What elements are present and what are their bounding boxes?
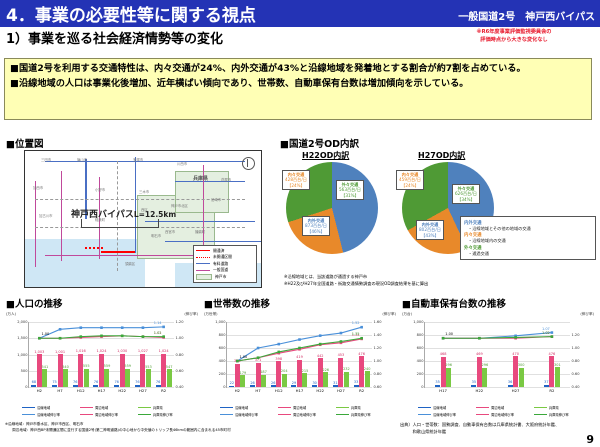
od-label-h27-inout: 内外交通 802百台/日 【43%】 <box>416 220 444 240</box>
vehicles-unit-right: (伸び率) <box>580 312 594 317</box>
od-chart-title-h27: H27OD内訳 <box>418 150 465 161</box>
x-axis-tick: H7 <box>255 388 260 393</box>
y-axis-tick-left: 400 <box>417 359 424 363</box>
city-tag: 加古川市 <box>39 213 53 218</box>
y-axis-tick-left: 0 <box>25 385 27 389</box>
line-end-value-label: 1.02 <box>154 331 162 335</box>
od-key-desc: ・沿線地域とその他の地域の交通 <box>464 226 592 232</box>
legend-label: 沿線地域伸び率 <box>37 412 60 417</box>
y-axis-tick-right: 0.40 <box>572 385 580 389</box>
y-axis-tick-right: 1.00 <box>572 346 580 350</box>
legend-label: 沿線地域 <box>37 405 50 410</box>
y-axis-tick-left: 1,500 <box>17 336 27 340</box>
od-chart-title-h22: H22OD内訳 <box>302 150 349 161</box>
y-axis-tick-left: 500 <box>21 369 28 373</box>
legend-label: 周辺地域 <box>95 405 108 410</box>
households-unit-left: (万世帯) <box>204 312 218 317</box>
line-end-value-label: 1.14 <box>154 321 162 325</box>
y-axis-tick-right: 0.60 <box>572 372 580 376</box>
y-axis-tick-left: 600 <box>417 346 424 350</box>
legend-swatch-icon <box>80 414 93 415</box>
legend-item: 兵庫県伸び率 <box>534 411 592 418</box>
opened-line-icon <box>196 250 210 251</box>
bullet-marker-icon: ■ <box>10 78 19 91</box>
page-title: 4．事業の必要性等に関する視点 <box>6 1 256 26</box>
households-unit-right: (伸び率) <box>382 312 396 317</box>
line-start-value-label: 1.00 <box>41 332 49 336</box>
legend-swatch-icon <box>534 407 547 409</box>
map-legend-label: 開通済 <box>213 248 224 254</box>
unopened-section-line <box>85 247 103 249</box>
od-label-h22-through: 外々交通 563百台/日 【31%】 <box>336 180 364 200</box>
page-number: 9 <box>586 433 594 446</box>
national-road-line <box>61 171 62 261</box>
x-axis-tick: H12 <box>77 388 85 393</box>
section-subtitle: 1）事業を巡る社会経済情勢等の変化 <box>6 28 223 47</box>
callout-bullet-2-text: 沿線地域の人口は事業化後増加、近年横ばい傾向であり、世帯数、自動車保有台数は増加… <box>19 78 468 89</box>
y-axis-tick-right: 0.80 <box>374 372 382 376</box>
od-label-pct: 【31%】 <box>339 193 361 198</box>
legend-label: 周辺地域 <box>491 405 504 410</box>
legend-label: 兵庫県伸び率 <box>153 412 173 417</box>
x-axis-tick: R2 <box>161 388 166 393</box>
x-axis-tick: H27 <box>139 388 147 393</box>
evaluation-note-line2: 評価時点から大きな変化なし <box>434 37 594 45</box>
x-axis-tick: H17 <box>296 388 304 393</box>
households-chart-heading: ■世帯数の推移 <box>204 296 270 310</box>
y-axis-tick-left: 200 <box>219 372 226 376</box>
od-label-h27-inner: 内々交通 459百台/日 【24%】 <box>396 170 424 190</box>
population-unit-right: (伸び率) <box>184 312 198 317</box>
footnote-right-2: 和歌山県統計年鑑 <box>400 429 559 436</box>
route-extent-brace <box>81 219 159 228</box>
legend-item: 周辺地域 <box>278 404 336 411</box>
legend-label: 兵庫県 <box>549 405 559 410</box>
y-axis-tick-left: 400 <box>219 359 226 363</box>
road-line <box>45 161 245 162</box>
od-definition-key: 内外交通 ・沿線地域とその他の地域の交通 内々交通 ・沿線地域内の交通 外々交通… <box>460 216 596 260</box>
legend-item: 周辺地域 <box>80 404 138 411</box>
households-plot-area: 00.602000.804001.006001.208001.401,0001.… <box>226 322 372 388</box>
od-note-2: ※H22及びH27年全国道路・街路交通情勢調査の現況OD調査結果を基に算出 <box>284 281 428 288</box>
line-start-value-label: 1.00 <box>445 332 453 336</box>
map-legend: 開通済 未開通区間 有料道路 一般国道 神戸市 <box>193 245 257 284</box>
legend-swatch-icon <box>22 414 35 415</box>
legend-item: 沿線地域 <box>220 404 278 411</box>
location-map-panel: ■位置図 神戸西バイパスL=12.5km <box>6 136 268 288</box>
legend-item: 周辺地域伸び率 <box>476 411 534 418</box>
x-axis-tick: H12 <box>275 388 283 393</box>
legend-label: 兵庫県 <box>153 405 163 410</box>
od-label-pct: 【24%】 <box>285 183 307 188</box>
opened-section-line <box>101 251 135 253</box>
legend-label: 兵庫県伸び率 <box>549 412 569 417</box>
x-axis-tick: H2 <box>235 388 240 393</box>
od-key-desc: ・沿線地域内の交通 <box>464 238 592 244</box>
city-tag: 小野市 <box>95 187 105 192</box>
y-axis-tick-right: 0.60 <box>176 369 184 373</box>
x-axis-tick: H17 <box>98 388 106 393</box>
city-tag: 播磨町 <box>195 229 205 234</box>
legend-label: 兵庫県伸び率 <box>351 412 371 417</box>
callout-bullet-1: ■ 国道2号を利用する交通特性は、内々交通が24%、内外交通が43%と沿線地域を… <box>10 63 586 76</box>
legend-item: 兵庫県伸び率 <box>336 411 394 418</box>
x-axis-tick: H27 <box>512 388 520 393</box>
legend-item: 周辺地域伸び率 <box>278 411 336 418</box>
legend-swatch-icon <box>80 407 93 409</box>
legend-swatch-icon <box>278 414 291 415</box>
city-tag: 三田市 <box>41 157 51 162</box>
y-axis-tick-left: 800 <box>417 333 424 337</box>
city-tag: 西区 <box>141 207 148 212</box>
callout-bullet-1-text: 国道2号を利用する交通特性は、内々交通が24%、内外交通が43%と沿線地域を発着… <box>19 63 526 74</box>
y-axis-tick-right: 1.00 <box>176 336 184 340</box>
legend-item: 兵庫県 <box>534 404 592 411</box>
y-axis-tick-left: 0 <box>223 385 225 389</box>
y-axis-tick-right: 0.80 <box>572 359 580 363</box>
legend-label: 沿線地域 <box>433 405 446 410</box>
population-unit-left: (万人) <box>6 312 16 317</box>
map-legend-label: 一般国道 <box>213 267 228 273</box>
od-breakdown-panel: ■国道2号OD内訳 H22OD内訳 H27OD内訳 内々交通 428百台/日 【… <box>280 136 596 288</box>
legend-item: 沿線地域伸び率 <box>418 411 476 418</box>
legend-item: 兵庫県 <box>138 404 196 411</box>
map-legend-label: 未開通区間 <box>213 254 232 260</box>
city-tag: 加西市 <box>33 185 43 190</box>
legend-swatch-icon <box>418 407 431 409</box>
toll-road-line-icon <box>196 263 210 264</box>
growth-rate-lines <box>227 322 372 387</box>
x-axis-tick: H27 <box>337 388 345 393</box>
households-chart-legend: 沿線地域周辺地域兵庫県沿線地域伸び率周辺地域伸び率兵庫県伸び率 <box>220 404 394 418</box>
legend-swatch-icon <box>534 414 547 415</box>
y-axis-tick-left: 600 <box>219 346 226 350</box>
road-line <box>175 181 245 182</box>
city-tag: 須磨区 <box>125 261 135 266</box>
od-label-value: 459百台/日 <box>399 177 421 182</box>
od-label-h22-inner: 内々交通 428百台/日 【24%】 <box>282 170 310 190</box>
legend-label: 沿線地域伸び率 <box>235 412 258 417</box>
y-axis-tick-right: 1.20 <box>176 320 184 324</box>
od-label-pct: 【34%】 <box>455 197 477 202</box>
population-chart-heading: ■人口の推移 <box>6 296 62 310</box>
national-road-line-icon <box>196 270 210 271</box>
kobe-area-swatch-icon <box>196 274 212 280</box>
y-axis-tick-right: 1.00 <box>374 359 382 363</box>
unopened-line-icon <box>196 257 210 258</box>
od-notes: ※沿線地域とは、当該道路が通過する神戸市 ※H22及びH27年全国道路・街路交通… <box>284 274 428 287</box>
x-axis-tick: H22 <box>118 388 126 393</box>
y-axis-tick-right: 0.80 <box>176 353 184 357</box>
legend-item: 周辺地域伸び率 <box>80 411 138 418</box>
city-tag: 明石市 <box>151 233 161 238</box>
city-tag: 尼崎市 <box>211 197 221 202</box>
x-axis-tick: R2 <box>359 388 364 393</box>
vehicles-chart-panel: ■自動車保有台数の推移 (万台) (伸び率) 00.402000.604000.… <box>400 296 596 418</box>
legend-swatch-icon <box>220 407 233 409</box>
prefecture-label: 兵庫県 <box>193 175 208 182</box>
y-axis-tick-right: 0.40 <box>176 385 184 389</box>
map-legend-label: 有料道路 <box>213 261 228 267</box>
map-heading: ■位置図 <box>6 136 268 150</box>
y-axis-tick-left: 200 <box>417 372 424 376</box>
compass-icon <box>242 157 255 170</box>
footnote-left-2: 周辺地域：神戸西BP未開通区間に並行する国道2号(第二神明道路)の中心地から中央… <box>5 428 231 434</box>
legend-swatch-icon <box>138 414 151 415</box>
legend-swatch-icon <box>278 407 291 409</box>
vehicles-plot-area: 00.402000.604000.806001.008001.201,00035… <box>424 322 570 388</box>
od-label-h27-through: 外々交通 626百台/日 【34%】 <box>452 184 480 204</box>
evaluation-note-line1: ※R6年度事業評価監視委員会の <box>434 29 594 37</box>
road-line <box>145 221 255 222</box>
bullet-marker-icon: ■ <box>10 63 19 76</box>
callout-bullet-2: ■ 沿線地域の人口は事業化後増加、近年横ばい傾向であり、世帯数、自動車保有台数は… <box>10 78 586 91</box>
summary-callout: ■ 国道2号を利用する交通特性は、内々交通が24%、内外交通が43%と沿線地域を… <box>4 58 592 120</box>
line-end-value-label: 1.02 <box>542 331 550 335</box>
evaluation-note: ※R6年度事業評価監視委員会の 評価時点から大きな変化なし <box>434 29 594 45</box>
map-legend-item: 神戸市 <box>196 274 254 281</box>
legend-label: 沿線地域 <box>235 405 248 410</box>
od-label-value: 428百台/日 <box>285 177 307 182</box>
od-label-value: 873百台/日 <box>305 223 327 228</box>
road-line <box>135 157 136 253</box>
legend-swatch-icon <box>418 414 431 415</box>
city-tag: 神戸市北区 <box>171 203 188 208</box>
legend-swatch-icon <box>476 407 489 409</box>
legend-item: 沿線地域伸び率 <box>220 411 278 418</box>
x-axis-tick: H7 <box>57 388 62 393</box>
city-tag: 宝塚市 <box>133 157 143 162</box>
y-axis-tick-left: 0 <box>421 385 423 389</box>
legend-item: 兵庫県伸び率 <box>138 411 196 418</box>
od-label-h22-inout: 内外交通 873百台/日 【46%】 <box>302 216 330 236</box>
legend-label: 沿線地域伸び率 <box>433 412 456 417</box>
footnote-right: 出典）人口・世帯数：国勢調査、自動車保有台数は兵庫県統計書、大阪府統計年鑑、 和… <box>400 422 559 435</box>
od-label-pct: 【46%】 <box>305 229 327 234</box>
od-label-pct: 【43%】 <box>419 233 441 238</box>
x-axis-tick: R2 <box>549 388 554 393</box>
city-tag: 芦屋市 <box>221 177 231 182</box>
footnote-right-1: 出典）人口・世帯数：国勢調査、自動車保有台数は兵庫県統計書、大阪府統計年鑑、 <box>400 422 559 429</box>
legend-label: 周辺地域伸び率 <box>95 412 118 417</box>
line-end-value-label: 1.35 <box>352 332 360 336</box>
map-legend-label: 神戸市 <box>215 274 226 280</box>
national-road-line <box>35 181 36 267</box>
legend-item: 沿線地域 <box>418 404 476 411</box>
road-line <box>165 241 261 242</box>
population-plot-area: 00.405000.601,0000.801,5001.002,0001.206… <box>28 322 174 388</box>
line-end-value-label: 1.52 <box>352 321 360 325</box>
legend-swatch-icon <box>336 414 349 415</box>
legend-swatch-icon <box>22 407 35 409</box>
od-heading: ■国道2号OD内訳 <box>280 136 596 150</box>
od-label-value: 626百台/日 <box>455 191 477 196</box>
footnote-left: ※沿線地域：神戸市垂水区、神戸市西区、明石市 周辺地域：神戸西BP未開通区間に並… <box>5 422 231 434</box>
legend-item: 兵庫県 <box>336 404 394 411</box>
legend-item: 周辺地域 <box>476 404 534 411</box>
y-axis-tick-right: 1.20 <box>374 346 382 350</box>
city-tag: 西宮市 <box>165 229 175 234</box>
x-axis-tick: H2 <box>37 388 42 393</box>
legend-swatch-icon <box>138 407 151 409</box>
y-axis-tick-left: 1,000 <box>413 320 423 324</box>
od-label-value: 563百台/日 <box>339 187 361 192</box>
legend-label: 周辺地域伸び率 <box>491 412 514 417</box>
legend-label: 周辺地域 <box>293 405 306 410</box>
y-axis-tick-right: 1.40 <box>374 333 382 337</box>
slide-root: 4．事業の必要性等に関する視点 一般国道2号 神戸西バイパス 1）事業を巡る社会… <box>0 0 600 447</box>
y-axis-tick-right: 1.20 <box>572 333 580 337</box>
line-start-value-label: 1.00 <box>239 355 247 359</box>
x-axis-tick: H22 <box>316 388 324 393</box>
city-tag: 稲美町 <box>95 217 105 222</box>
growth-rate-lines <box>29 322 174 387</box>
legend-swatch-icon <box>220 414 233 415</box>
vehicles-chart-heading: ■自動車保有台数の推移 <box>402 296 506 310</box>
y-axis-tick-left: 2,000 <box>17 320 27 324</box>
legend-swatch-icon <box>336 407 349 409</box>
map-canvas: 神戸西バイパスL=12.5km 兵庫県 三田市 篠山市 宝塚市 川西市 加西市 … <box>24 150 262 288</box>
od-label-value: 802百台/日 <box>419 227 441 232</box>
households-chart-panel: ■世帯数の推移 (万世帯) (伸び率) 00.602000.804001.006… <box>202 296 398 418</box>
legend-swatch-icon <box>476 414 489 415</box>
x-axis-tick: H22 <box>476 388 484 393</box>
city-tag: 川西市 <box>177 161 187 166</box>
city-tag: 篠山市 <box>77 157 87 162</box>
od-key-desc: ・通過交通 <box>464 251 592 257</box>
y-axis-tick-left: 1,000 <box>17 353 27 357</box>
x-axis-tick: H17 <box>439 388 447 393</box>
vehicles-unit-left: (万台) <box>402 312 412 317</box>
legend-item: 沿線地域 <box>22 404 80 411</box>
title-bar: 4．事業の必要性等に関する視点 一般国道2号 神戸西バイパス <box>0 0 600 27</box>
legend-label: 周辺地域伸び率 <box>293 412 316 417</box>
population-chart-legend: 沿線地域周辺地域兵庫県沿線地域伸び率周辺地域伸び率兵庫県伸び率 <box>22 404 196 418</box>
od-label-pct: 【24%】 <box>399 183 421 188</box>
legend-label: 兵庫県 <box>351 405 361 410</box>
route-name: 一般国道2号 神戸西バイパス <box>458 8 595 23</box>
y-axis-tick-left: 1,000 <box>215 320 225 324</box>
y-axis-tick-right: 0.60 <box>374 385 382 389</box>
legend-item: 沿線地域伸び率 <box>22 411 80 418</box>
vehicles-chart-legend: 沿線地域周辺地域兵庫県沿線地域伸び率周辺地域伸び率兵庫県伸び率 <box>418 404 592 418</box>
y-axis-tick-right: 1.60 <box>374 320 382 324</box>
y-axis-tick-left: 800 <box>219 333 226 337</box>
population-chart-panel: ■人口の推移 (万人) (伸び率) 00.405000.601,0000.801… <box>4 296 200 418</box>
city-tag: 三木市 <box>139 189 149 194</box>
